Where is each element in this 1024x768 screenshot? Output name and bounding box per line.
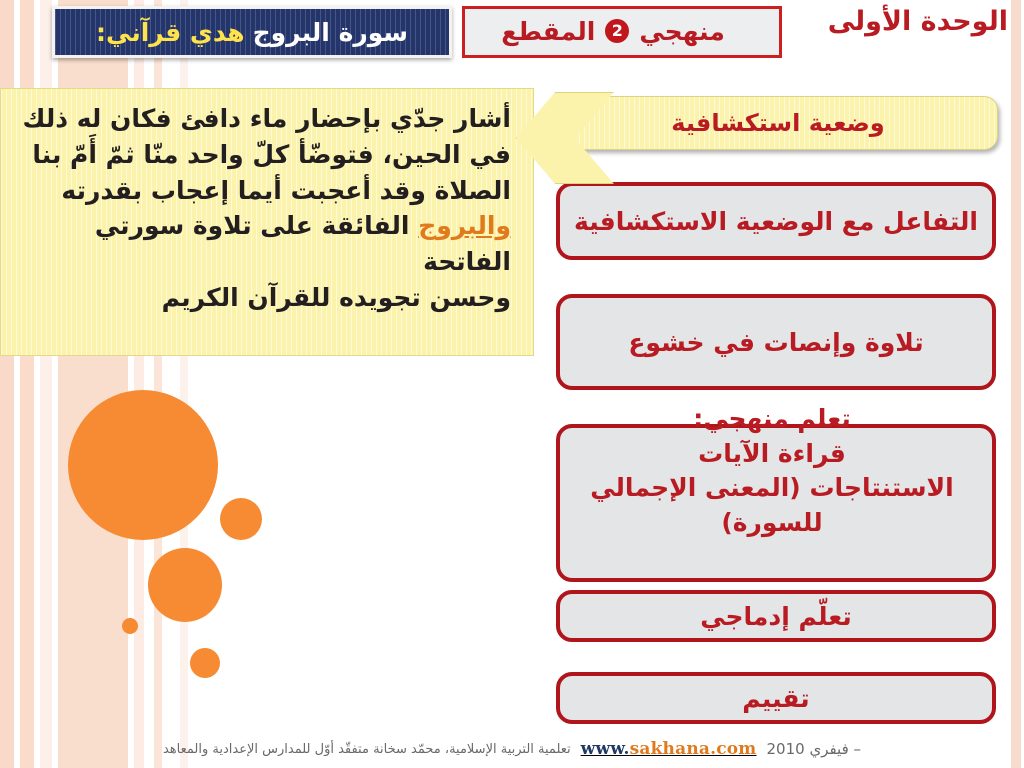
methodical-learning-text: تعلم منهجي: قراءة الآيات الاستنتاجات (ال… bbox=[552, 402, 992, 540]
footer-url-www: www. bbox=[581, 739, 630, 759]
footer-url-domain: sakhana.com bbox=[630, 739, 757, 759]
surah-banner-prefix: هدي قرآني: bbox=[96, 18, 245, 47]
segment-tag: منهجي bbox=[639, 17, 725, 46]
step-label: تقييم bbox=[742, 684, 809, 713]
step-box-integrative-learning[interactable]: تعلّم إدماجي bbox=[556, 590, 996, 642]
decorative-circle-large bbox=[68, 390, 218, 540]
story-highlight-surah: والبروج bbox=[418, 211, 511, 240]
segment-box-content: منهجي 2 المقطع bbox=[465, 9, 779, 55]
methodical-line-3: الاستنتاجات (المعنى الإجمالي bbox=[552, 471, 992, 506]
decorative-circle-tiny bbox=[122, 618, 138, 634]
story-line-4: والبروج الفائقة على تلاوة سورتي الفاتحة bbox=[17, 208, 511, 280]
footer-credit: تعلمية التربية الإسلامية، محمّد سخانة مت… bbox=[163, 742, 571, 757]
segment-box: منهجي 2 المقطع bbox=[462, 6, 782, 58]
decorative-circle-medium bbox=[148, 548, 222, 622]
segment-number-badge: 2 bbox=[605, 19, 629, 43]
story-line-5: وحسن تجويده للقرآن الكريم bbox=[17, 280, 511, 316]
background-stripes-right bbox=[998, 0, 1024, 768]
segment-label: المقطع bbox=[501, 17, 595, 46]
story-line-2: في الحين، فتوضّأ كلّ واحد منّا ثمّ أَمّ … bbox=[17, 137, 511, 173]
step-box-exploratory-situation[interactable]: وضعية استكشافية bbox=[558, 96, 998, 150]
step-label: التفاعل مع الوضعية الاستكشافية bbox=[574, 207, 978, 236]
story-line-3: الصلاة وقد أعجبت أيما إعجاب بقدرته bbox=[17, 173, 511, 209]
methodical-line-4: للسورة) bbox=[552, 506, 992, 541]
step-box-methodical-learning[interactable]: تعلم منهجي: قراءة الآيات الاستنتاجات (ال… bbox=[556, 424, 996, 582]
step-label: وضعية استكشافية bbox=[671, 109, 884, 137]
surah-banner-title: سورة البروج bbox=[253, 18, 408, 47]
methodical-line-2: قراءة الآيات bbox=[552, 437, 992, 472]
footer: – فيفري 2010 www.sakhana.com تعلمية التر… bbox=[0, 736, 1024, 762]
step-label: تعلّم إدماجي bbox=[700, 602, 852, 631]
story-callout: أشار جدّي بإحضار ماء دافئ فكان له ذلك في… bbox=[0, 88, 534, 356]
step-box-recitation-listening[interactable]: تلاوة وإنصات في خشوع bbox=[556, 294, 996, 390]
unit-title: الوحدة الأولى bbox=[828, 6, 1008, 37]
step-box-assessment[interactable]: تقييم bbox=[556, 672, 996, 724]
decorative-circle-small-right bbox=[220, 498, 262, 540]
decorative-circle-small-bottom bbox=[190, 648, 220, 678]
step-box-interaction-exploratory[interactable]: التفاعل مع الوضعية الاستكشافية bbox=[556, 182, 996, 260]
surah-banner: سورة البروج هدي قرآني: bbox=[52, 6, 452, 58]
footer-website-link[interactable]: www.sakhana.com bbox=[581, 739, 757, 759]
story-line-1: أشار جدّي بإحضار ماء دافئ فكان له ذلك bbox=[17, 101, 511, 137]
methodical-line-1: تعلم منهجي: bbox=[552, 402, 992, 437]
slide-canvas: الوحدة الأولى منهجي 2 المقطع سورة البروج… bbox=[0, 0, 1024, 768]
step-label: تلاوة وإنصات في خشوع bbox=[628, 328, 923, 357]
footer-date: – فيفري 2010 bbox=[767, 740, 862, 758]
